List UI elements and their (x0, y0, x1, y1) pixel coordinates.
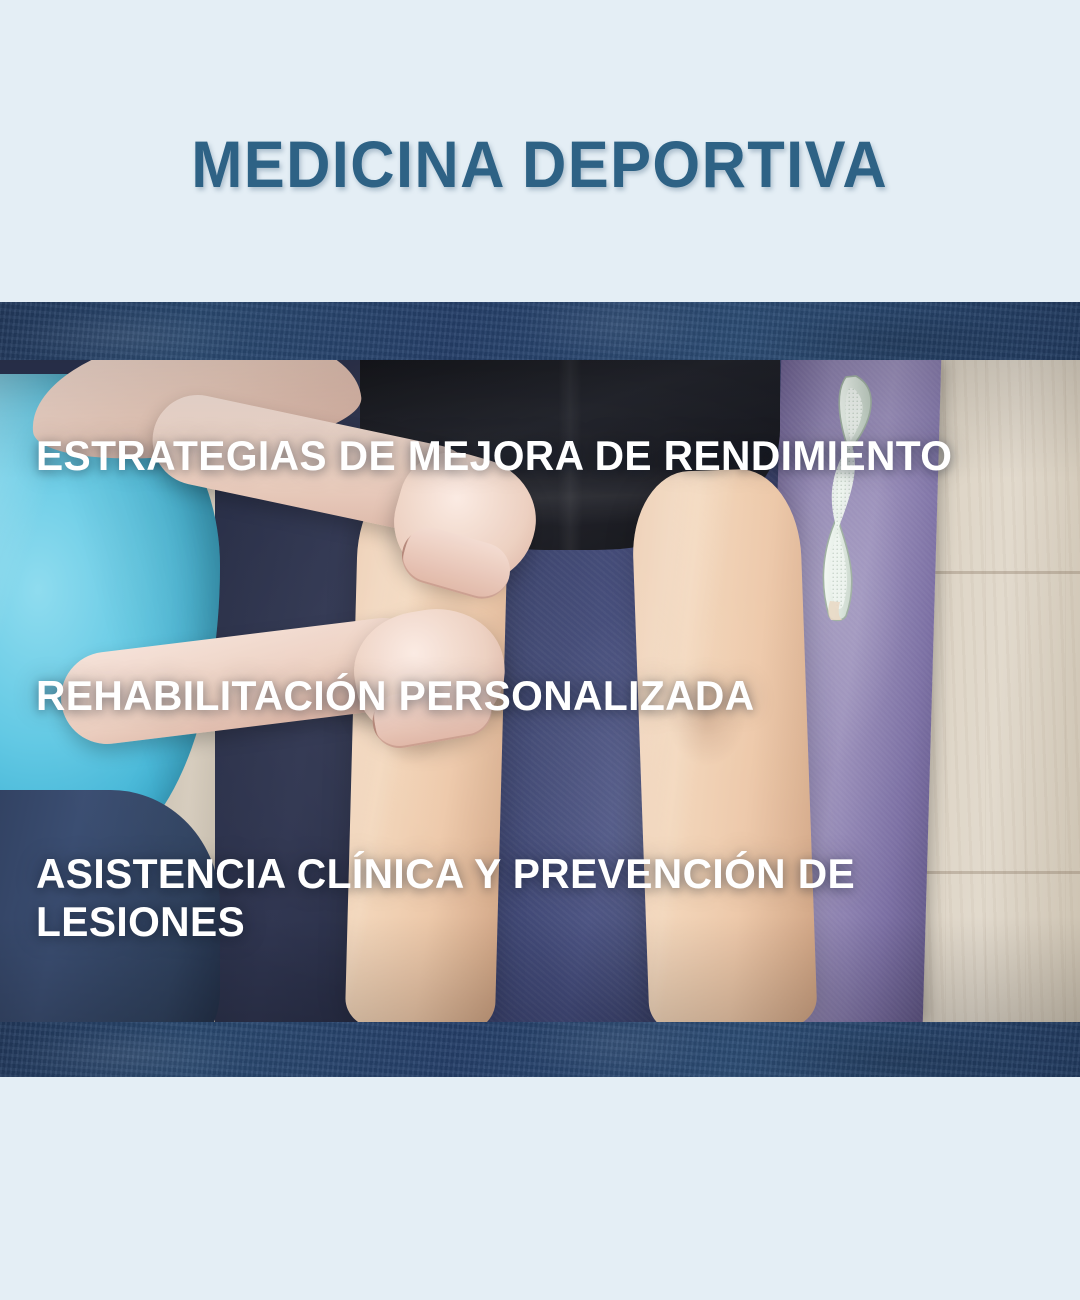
hero-banner: ESTRATEGIAS DE MEJORA DE RENDIMIENTO REH… (0, 302, 1080, 1077)
title-zone: MEDICINA DEPORTIVA (0, 0, 1080, 302)
bottom-accent-band (0, 1022, 1080, 1077)
top-accent-band (0, 302, 1080, 360)
feature-item-rehabilitation: REHABILITACIÓN PERSONALIZADA (36, 672, 1029, 720)
feature-item-performance: ESTRATEGIAS DE MEJORA DE RENDIMIENTO (36, 432, 1029, 480)
feature-item-clinical-care: ASISTENCIA CLÍNICA Y PREVENCIÓN DE LESIO… (36, 850, 1029, 946)
feature-overlay: ESTRATEGIAS DE MEJORA DE RENDIMIENTO REH… (0, 360, 1080, 1022)
page-title: MEDICINA DEPORTIVA (192, 131, 889, 197)
